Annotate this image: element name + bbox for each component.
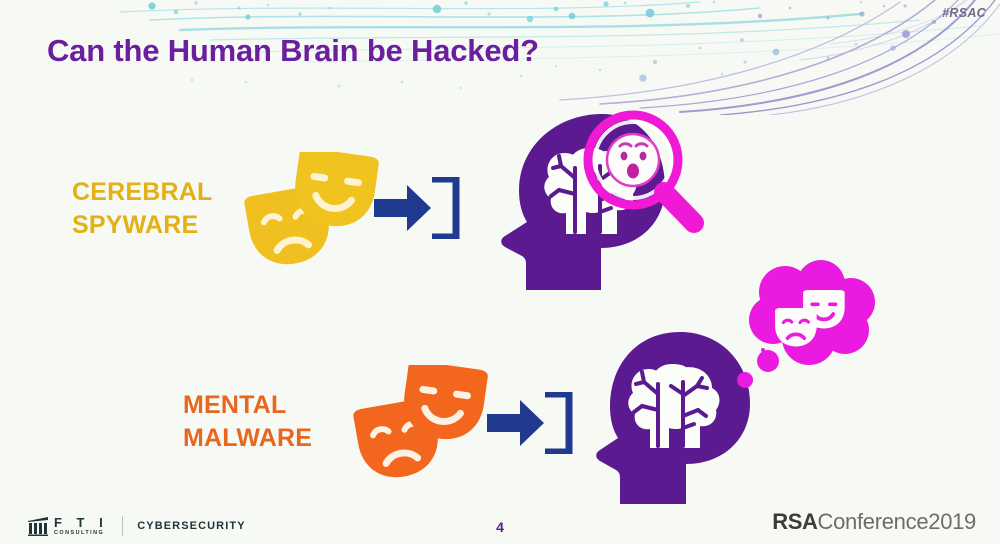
arrow-into-bracket-icon-top	[374, 177, 464, 239]
theater-masks-icon-yellow	[243, 152, 383, 270]
thought-bubble-masks-icon	[733, 258, 888, 388]
label-cerebral-line1: CEREBRAL	[72, 176, 213, 209]
rsac-hashtag: #RSAC	[942, 6, 986, 20]
rsa-logo-bold: RSA	[772, 509, 817, 535]
label-cerebral-line2: SPYWARE	[72, 209, 213, 242]
arrow-into-bracket-icon-bottom	[487, 392, 577, 454]
page-title: Can the Human Brain be Hacked?	[47, 33, 539, 69]
rsa-conference-logo: RSA Conference2019	[772, 509, 976, 535]
rsa-logo-light: Conference2019	[818, 509, 976, 535]
label-cerebral-spyware: CEREBRAL SPYWARE	[72, 176, 213, 243]
label-mental-malware: MENTAL MALWARE	[183, 389, 312, 456]
brain-head-with-magnifier-icon	[489, 108, 714, 296]
label-mental-line2: MALWARE	[183, 422, 312, 455]
label-mental-line1: MENTAL	[183, 389, 312, 422]
theater-masks-icon-orange	[352, 365, 492, 483]
slide-canvas: #RSAC Can the Human Brain be Hacked? CER…	[0, 0, 1000, 544]
